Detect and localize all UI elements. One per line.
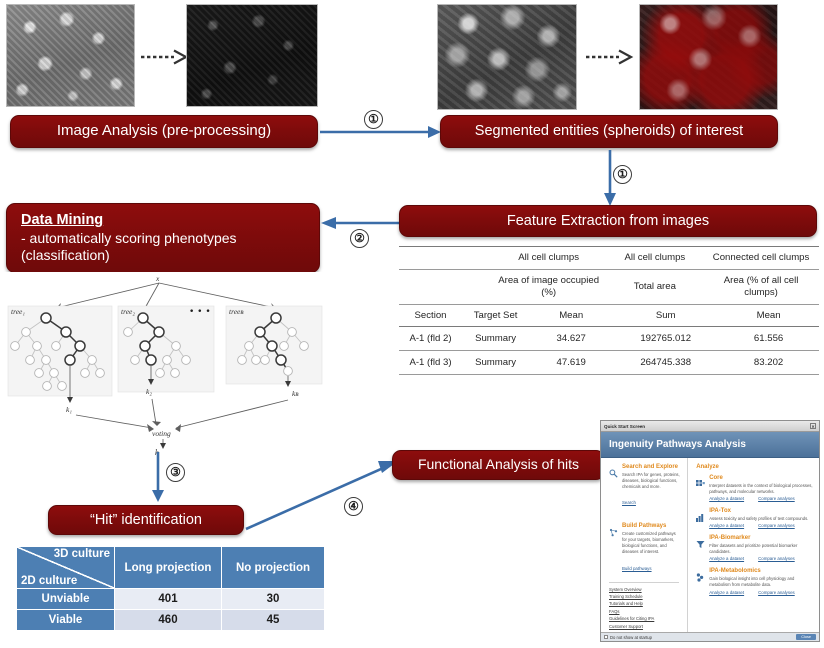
cell-sum: 264745.338 bbox=[613, 351, 718, 375]
step-number-1b: ① bbox=[613, 165, 632, 184]
checkbox-icon[interactable] bbox=[604, 635, 608, 639]
process-box-feature-extraction-label: Feature Extraction from images bbox=[497, 212, 719, 230]
random-forest-diagram: x tree₁ tree₂ treeʙ • • • bbox=[4, 272, 326, 450]
process-box-segmented-entities-label: Segmented entities (spheroids) of intere… bbox=[465, 122, 753, 140]
rf-output-label-b: kʙ bbox=[292, 389, 299, 398]
table-row-header: 3D culture 2D culture Long projection No… bbox=[17, 547, 325, 589]
ipa-heading-build: Build Pathways bbox=[622, 523, 681, 529]
grid-nodes-icon bbox=[696, 475, 705, 501]
micrograph-raw-phase bbox=[6, 4, 135, 107]
ipa-body: Search and Explore Search IPA for genes,… bbox=[601, 458, 819, 632]
rf-input-label: x bbox=[155, 274, 160, 283]
ipa-footer: Do not show at startup Close bbox=[601, 632, 819, 641]
ipa-heading-biomarker: IPA-Biomarker bbox=[709, 535, 813, 541]
cell-target-set: Summary bbox=[462, 327, 529, 351]
ipa-link-customer-support[interactable]: Customer Support bbox=[609, 624, 681, 629]
ipa-left-column: Search and Explore Search IPA for genes,… bbox=[601, 458, 688, 632]
matrix-col-header-long-projection: Long projection bbox=[115, 547, 222, 589]
ipa-body-metabolomics: Gain biological insight into cell physio… bbox=[709, 576, 813, 588]
ipa-section-metabolomics[interactable]: IPA-Metabolomics Gain biological insight… bbox=[696, 568, 813, 594]
arrow-step-4 bbox=[244, 455, 400, 531]
process-box-functional-analysis-label: Functional Analysis of hits bbox=[408, 456, 589, 474]
cell-group-1: All cell clumps bbox=[491, 247, 607, 270]
matrix-row-header-unviable: Unviable bbox=[17, 589, 115, 610]
process-box-segmented-entities[interactable]: Segmented entities (spheroids) of intere… bbox=[440, 115, 778, 148]
ipa-link-core-analyze[interactable]: Analyze a dataset bbox=[709, 496, 744, 501]
cell-measure-1: Area of image occupied (%) bbox=[491, 270, 607, 304]
matrix-corner-3d-label: 3D culture bbox=[54, 548, 110, 560]
ipa-link-core-compare[interactable]: Compare analyses bbox=[758, 496, 795, 501]
rf-voting-label: voting bbox=[152, 429, 171, 438]
ipa-link-biomarker-analyze[interactable]: Analyze a dataset bbox=[709, 556, 744, 561]
ipa-section-search-and-explore[interactable]: Search and Explore Search IPA for genes,… bbox=[609, 464, 681, 509]
cell-colhead-4: Mean bbox=[718, 304, 819, 326]
magnifier-icon bbox=[609, 464, 618, 509]
step-number-3: ③ bbox=[166, 463, 185, 482]
ipa-heading-tox: IPA-Tox bbox=[709, 508, 808, 514]
rf-ellipsis: • • • bbox=[189, 307, 211, 317]
ipa-section-tox[interactable]: IPA-Tox Assess toxicity and safety profi… bbox=[696, 508, 813, 528]
matrix-col-header-no-projection: No projection bbox=[222, 547, 325, 589]
ipa-close-button[interactable]: Close bbox=[796, 634, 816, 640]
matrix-cell-unviable-no: 30 bbox=[222, 589, 325, 610]
ipa-body-biomarker: Filter datasets and prioritize potential… bbox=[709, 543, 813, 555]
network-icon bbox=[609, 523, 618, 574]
cell-group-3: Connected cell clumps bbox=[703, 247, 819, 270]
ipa-link-tutorials-and-help[interactable]: Tutorials and Help bbox=[609, 601, 681, 606]
micrograph-raw-phase-texture bbox=[7, 5, 134, 106]
process-box-data-mining[interactable]: Data Mining - automatically scoring phen… bbox=[6, 203, 320, 273]
cell-colhead-2: Mean bbox=[529, 304, 613, 326]
micrograph-preprocessed-texture bbox=[187, 5, 317, 106]
cell-target-set: Summary bbox=[462, 351, 529, 375]
feature-extraction-table: All cell clumps All cell clumps Connecte… bbox=[399, 246, 819, 375]
process-box-image-analysis-label: Image Analysis (pre-processing) bbox=[47, 122, 281, 141]
rf-tree-label-b: treeʙ bbox=[229, 307, 244, 316]
ipa-link-faqs[interactable]: FAQs bbox=[609, 609, 681, 614]
ipa-quick-start-window[interactable]: Quick Start Screen ✕ Ingenuity Pathways … bbox=[600, 420, 820, 642]
table-row: A-1 (fld 3) Summary 47.619 264745.338 83… bbox=[399, 351, 819, 375]
ipa-startup-checkbox-label: Do not show at startup bbox=[610, 635, 652, 640]
matrix-corner-cell: 3D culture 2D culture bbox=[17, 547, 115, 589]
ipa-heading-metabolomics: IPA-Metabolomics bbox=[709, 568, 813, 574]
cell-section: A-1 (fld 2) bbox=[399, 327, 462, 351]
dashed-arrow-preprocess bbox=[140, 48, 188, 66]
process-box-data-mining-line3: (classification) bbox=[7, 247, 120, 265]
ipa-titlebar-label: Quick Start Screen bbox=[604, 424, 645, 429]
ipa-link-tox-analyze[interactable]: Analyze a dataset bbox=[709, 523, 744, 528]
ipa-section-biomarker[interactable]: IPA-Biomarker Filter datasets and priori… bbox=[696, 535, 813, 561]
step-number-4: ④ bbox=[344, 497, 363, 516]
ipa-link-metabolomics-analyze[interactable]: Analyze a dataset bbox=[709, 590, 744, 595]
process-box-functional-analysis[interactable]: Functional Analysis of hits bbox=[392, 450, 605, 480]
ipa-link-biomarker-compare[interactable]: Compare analyses bbox=[758, 556, 795, 561]
ipa-link-citing-guidelines[interactable]: Guidelines for Citing IPA bbox=[609, 616, 681, 621]
table-row-group-headers: All cell clumps All cell clumps Connecte… bbox=[399, 247, 819, 270]
ipa-heading-analyze: Analyze bbox=[696, 464, 813, 470]
ipa-link-search[interactable]: Search bbox=[622, 500, 636, 505]
micrograph-grayscale-spheroids-texture bbox=[438, 5, 576, 109]
ipa-titlebar: Quick Start Screen ✕ bbox=[601, 421, 819, 432]
ipa-body-tox: Assess toxicity and safety profiles of t… bbox=[709, 516, 808, 522]
cell-mean2: 83.202 bbox=[718, 351, 819, 375]
cell-colhead-3: Sum bbox=[613, 304, 718, 326]
arrow-step-3 bbox=[148, 452, 168, 502]
molecule-icon bbox=[696, 568, 705, 594]
cell-measure-0 bbox=[399, 270, 491, 304]
cell-colhead-1: Target Set bbox=[462, 304, 529, 326]
cell-colhead-0: Section bbox=[399, 304, 462, 326]
process-box-hit-identification[interactable]: “Hit” identification bbox=[48, 505, 244, 535]
process-box-data-mining-line2: - automatically scoring phenotypes bbox=[7, 230, 247, 248]
cell-mean: 47.619 bbox=[529, 351, 613, 375]
table-row: Unviable 401 30 bbox=[17, 589, 325, 610]
cell-section: A-1 (fld 3) bbox=[399, 351, 462, 375]
process-box-feature-extraction[interactable]: Feature Extraction from images bbox=[399, 205, 817, 237]
process-box-data-mining-title: Data Mining bbox=[7, 211, 113, 229]
process-box-hit-identification-label: “Hit” identification bbox=[80, 511, 212, 529]
micrograph-segmented-overlay bbox=[639, 4, 778, 110]
ipa-link-system-overview[interactable]: System Overview bbox=[609, 587, 681, 592]
rf-tree-label-1: tree₁ bbox=[11, 307, 25, 316]
step-number-1a: ① bbox=[364, 110, 383, 129]
matrix-cell-unviable-long: 401 bbox=[115, 589, 222, 610]
matrix-row-header-viable: Viable bbox=[17, 610, 115, 631]
ipa-divider bbox=[609, 582, 679, 583]
ipa-right-column: Analyze Core Interpret datasets in the c… bbox=[688, 458, 819, 632]
ipa-link-metabolomics-compare[interactable]: Compare analyses bbox=[758, 590, 795, 595]
ipa-link-build-pathways[interactable]: Build pathways bbox=[622, 566, 652, 571]
table-row: A-1 (fld 2) Summary 34.627 192765.012 61… bbox=[399, 327, 819, 351]
ipa-link-training-schedule[interactable]: Training Schedule bbox=[609, 594, 681, 599]
cell-sum: 192765.012 bbox=[613, 327, 718, 351]
cell-measure-2: Total area bbox=[607, 270, 704, 304]
matrix-cell-viable-long: 460 bbox=[115, 610, 222, 631]
funnel-icon bbox=[696, 535, 705, 561]
confusion-matrix-table: 3D culture 2D culture Long projection No… bbox=[16, 546, 325, 631]
ipa-section-core[interactable]: Core Interpret datasets in the context o… bbox=[696, 475, 813, 501]
micrograph-grayscale-spheroids bbox=[437, 4, 577, 110]
table-row-measure-headers: Area of image occupied (%) Total area Ar… bbox=[399, 270, 819, 304]
matrix-cell-viable-no: 45 bbox=[222, 610, 325, 631]
ipa-section-build-pathways[interactable]: Build Pathways Create customized pathway… bbox=[609, 523, 681, 574]
micrograph-preprocessed bbox=[186, 4, 318, 107]
ipa-heading-core: Core bbox=[709, 475, 813, 481]
process-box-image-analysis[interactable]: Image Analysis (pre-processing) bbox=[10, 115, 318, 148]
cell-group-2: All cell clumps bbox=[607, 247, 704, 270]
micrograph-segmented-overlay-texture bbox=[640, 5, 777, 109]
cell-mean: 34.627 bbox=[529, 327, 613, 351]
cell-mean2: 61.556 bbox=[718, 327, 819, 351]
bar-chart-icon bbox=[696, 508, 705, 528]
close-icon[interactable]: ✕ bbox=[810, 423, 816, 429]
ipa-body-build: Create customized pathways for your targ… bbox=[622, 531, 681, 555]
ipa-heading-search: Search and Explore bbox=[622, 464, 681, 470]
cell-group-0 bbox=[399, 247, 491, 270]
rf-output-label-1: k₁ bbox=[66, 405, 72, 414]
ipa-link-tox-compare[interactable]: Compare analyses bbox=[758, 523, 795, 528]
dashed-arrow-segmentation bbox=[585, 48, 633, 66]
step-number-2: ② bbox=[350, 229, 369, 248]
rf-output-label-2: k₂ bbox=[146, 387, 152, 396]
ipa-banner: Ingenuity Pathways Analysis bbox=[601, 432, 819, 458]
ipa-banner-title: Ingenuity Pathways Analysis bbox=[609, 439, 746, 450]
cell-measure-3: Area (% of all cell clumps) bbox=[703, 270, 819, 304]
table-row: Viable 460 45 bbox=[17, 610, 325, 631]
matrix-corner-2d-label: 2D culture bbox=[21, 575, 77, 587]
table-row-column-headers: Section Target Set Mean Sum Mean bbox=[399, 304, 819, 326]
ipa-resource-links: System Overview Training Schedule Tutori… bbox=[609, 587, 681, 629]
ipa-body-search: Search IPA for genes, proteins, diseases… bbox=[622, 472, 681, 490]
ipa-startup-checkbox[interactable]: Do not show at startup bbox=[604, 635, 652, 640]
rf-tree-label-2: tree₂ bbox=[121, 307, 135, 316]
ipa-body-core: Interpret datasets in the context of bio… bbox=[709, 483, 813, 495]
